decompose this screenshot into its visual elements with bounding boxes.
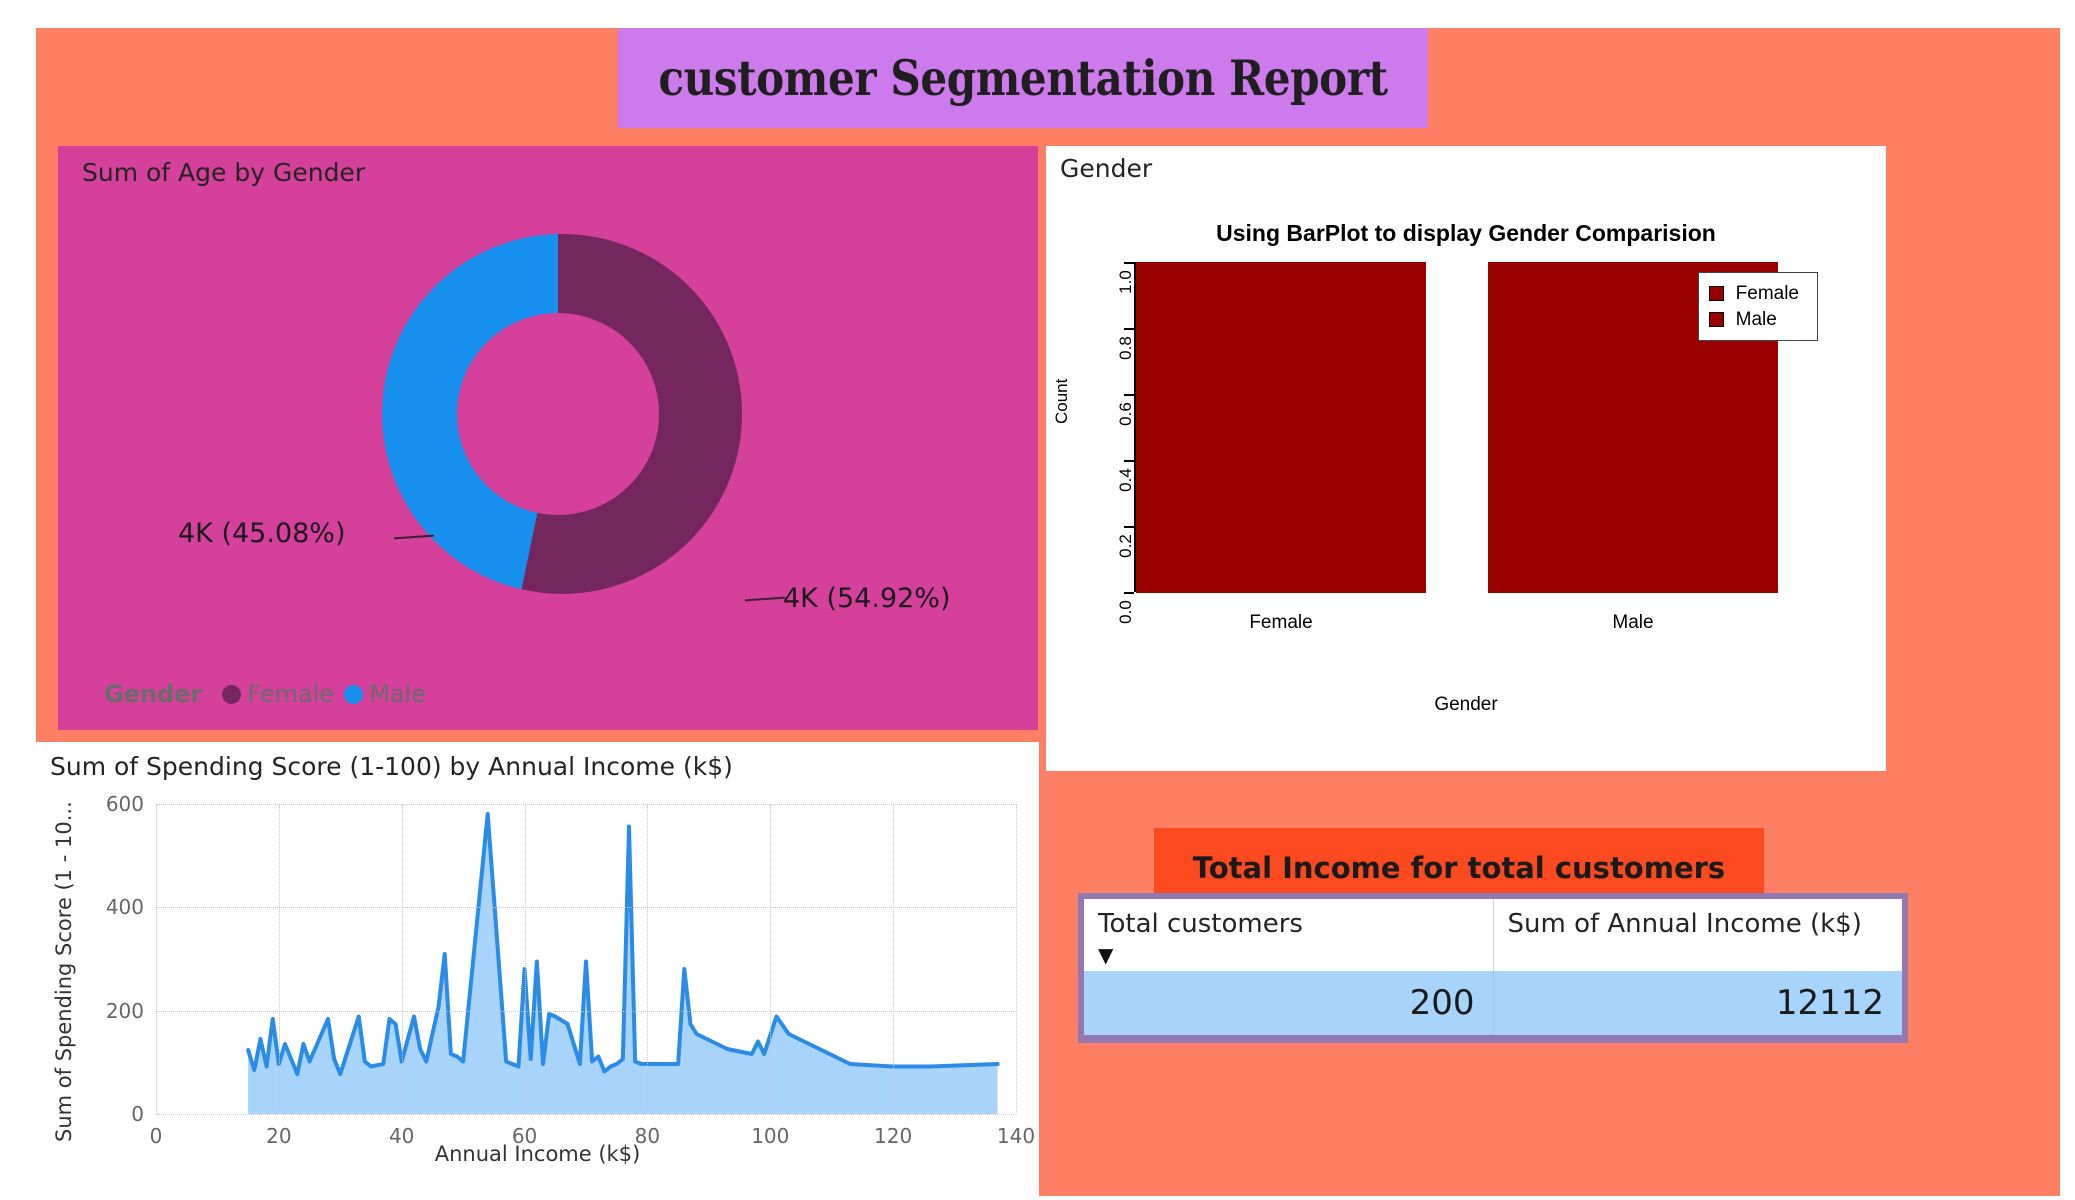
area-ytick-label: 200 [106,999,144,1023]
report-page: customer Segmentation Report Sum of Age … [36,28,2060,1196]
gridline-v [770,804,771,1114]
donut-legend-title: Gender [104,680,202,708]
gridline-h [156,804,1016,805]
legend-label-male: Male [369,680,426,708]
r-ytick-label: 0.6 [1116,394,1136,434]
r-barplot: Using BarPlot to display Gender Comparis… [1046,194,1886,764]
donut-label-female: 4K (54.92%) [783,583,950,614]
r-category-label-male: Male [1553,612,1713,634]
r-legend-swatch-male [1709,312,1724,327]
area-ytick-label: 600 [106,792,144,816]
r-ytick-label: 0.4 [1116,460,1136,500]
gridline-h [156,1114,1016,1115]
gridline-v [279,804,280,1114]
kpi-table-card[interactable]: Total customers ▼ Sum of Annual Income (… [1078,893,1908,1043]
area-chart-svg [156,804,1016,1114]
r-category-label-female: Female [1201,612,1361,634]
gridline-h [156,907,1016,908]
area-chart-title: Sum of Spending Score (1-100) by Annual … [50,752,733,781]
r-legend-label-male: Male [1736,307,1777,333]
column-header-total-customers[interactable]: Total customers ▼ [1084,899,1493,971]
legend-item-female[interactable]: Female [222,680,334,708]
donut-svg [358,214,758,614]
donut-chart-card[interactable]: Sum of Age by Gender 4K (45.08%) 4K (54.… [58,146,1038,730]
gridline-v [1016,804,1017,1114]
r-visual-title: Gender [1060,154,1152,183]
donut-chart[interactable] [358,214,758,614]
dashboard-canvas: customer Segmentation Report Sum of Age … [0,0,2075,1200]
report-title-banner: customer Segmentation Report [618,28,1428,128]
donut-chart-title: Sum of Age by Gender [82,158,365,187]
r-barplot-xlabel: Gender [1046,694,1886,716]
area-ytick-label: 400 [106,895,144,919]
r-legend-swatch-female [1709,286,1724,301]
r-barplot-legend: Female Male [1698,272,1818,341]
donut-legend: Gender Female Male [104,680,426,708]
cell-sum-annual-income: 12112 [1493,971,1902,1035]
r-legend-item-male: Male [1709,307,1799,333]
sort-descending-icon[interactable]: ▼ [1098,945,1113,965]
kpi-header-title: Total Income for total customers [1193,851,1725,885]
donut-label-male: 4K (45.08%) [178,518,345,549]
r-ytick-label: 0.2 [1116,526,1136,566]
legend-dot-female [222,685,241,704]
cell-total-customers: 200 [1084,971,1493,1035]
r-ytick-label: 1.0 [1116,262,1136,302]
area-ytick-label: 0 [131,1102,144,1126]
r-bar-female[interactable] [1136,262,1426,593]
page-title: customer Segmentation Report [658,49,1387,107]
kpi-table[interactable]: Total customers ▼ Sum of Annual Income (… [1084,899,1902,1035]
gridline-v [647,804,648,1114]
r-barplot-title: Using BarPlot to display Gender Comparis… [1046,220,1886,247]
area-chart-ylabel: Sum of Spending Score (1 - 10... [52,801,76,1142]
gridline-v [525,804,526,1114]
legend-item-male[interactable]: Male [344,680,426,708]
column-header-label: Total customers [1098,909,1303,939]
r-legend-label-female: Female [1736,281,1799,307]
area-chart-xlabel: Annual Income (k$) [36,1142,1039,1166]
r-visual-card[interactable]: Gender Using BarPlot to display Gender C… [1046,146,1886,771]
column-header-sum-annual-income[interactable]: Sum of Annual Income (k$) [1493,899,1902,971]
r-legend-item-female: Female [1709,281,1799,307]
legend-label-female: Female [247,680,334,708]
legend-dot-male [344,685,363,704]
table-header-row: Total customers ▼ Sum of Annual Income (… [1084,899,1902,971]
gridline-v [402,804,403,1114]
r-barplot-ylabel: Count [1052,379,1072,424]
area-chart-card[interactable]: Sum of Spending Score (1-100) by Annual … [36,742,1039,1196]
gridline-h [156,1011,1016,1012]
area-chart-plot[interactable]: 600 400 200 0 0 20 40 60 80 100 120 140 [156,804,1016,1114]
r-ytick-label: 0.8 [1116,328,1136,368]
r-ytick-label: 0.0 [1116,592,1136,632]
column-header-label: Sum of Annual Income (k$) [1508,909,1862,939]
gridline-v [893,804,894,1114]
gridline-v [156,804,157,1114]
table-row[interactable]: 200 12112 [1084,971,1902,1035]
